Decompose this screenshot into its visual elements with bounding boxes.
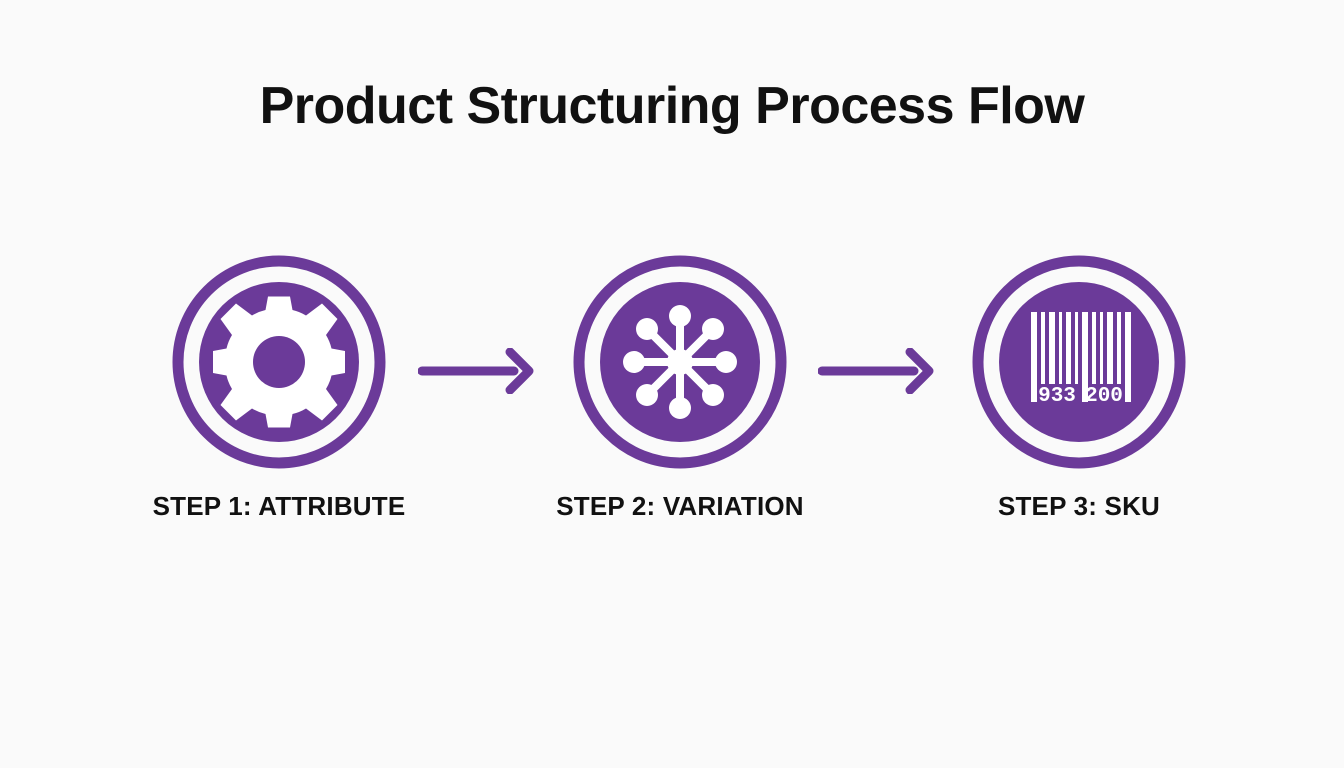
barcode-digits-right: 200 [1085, 385, 1123, 408]
flow-step-1[interactable]: STEP 1: ATTRIBUTE [129, 255, 429, 522]
step-2-badge [573, 255, 787, 469]
barcode-digits-left: 933 [1038, 385, 1076, 408]
barcode-icon: 933 200 [972, 255, 1186, 469]
flow-step-2[interactable]: STEP 2: VARIATION [530, 255, 830, 522]
page-title: Product Structuring Process Flow [0, 78, 1344, 135]
arrow-step1-to-step2 [418, 348, 538, 394]
step-3-badge: 933 200 [972, 255, 1186, 469]
process-flow: STEP 1: ATTRIBUTE [0, 255, 1344, 555]
step-3-label: STEP 3: SKU [929, 491, 1229, 522]
flow-step-3[interactable]: 933 200 STEP 3: SKU [929, 255, 1229, 522]
diagram-canvas: Product Structuring Process Flow STEP 1:… [0, 0, 1344, 768]
step-2-label: STEP 2: VARIATION [530, 491, 830, 522]
step-1-label: STEP 1: ATTRIBUTE [129, 491, 429, 522]
network-node-icon [573, 255, 787, 469]
step-1-badge [172, 255, 386, 469]
arrow-step2-to-step3 [818, 348, 938, 394]
gear-icon [172, 255, 386, 469]
